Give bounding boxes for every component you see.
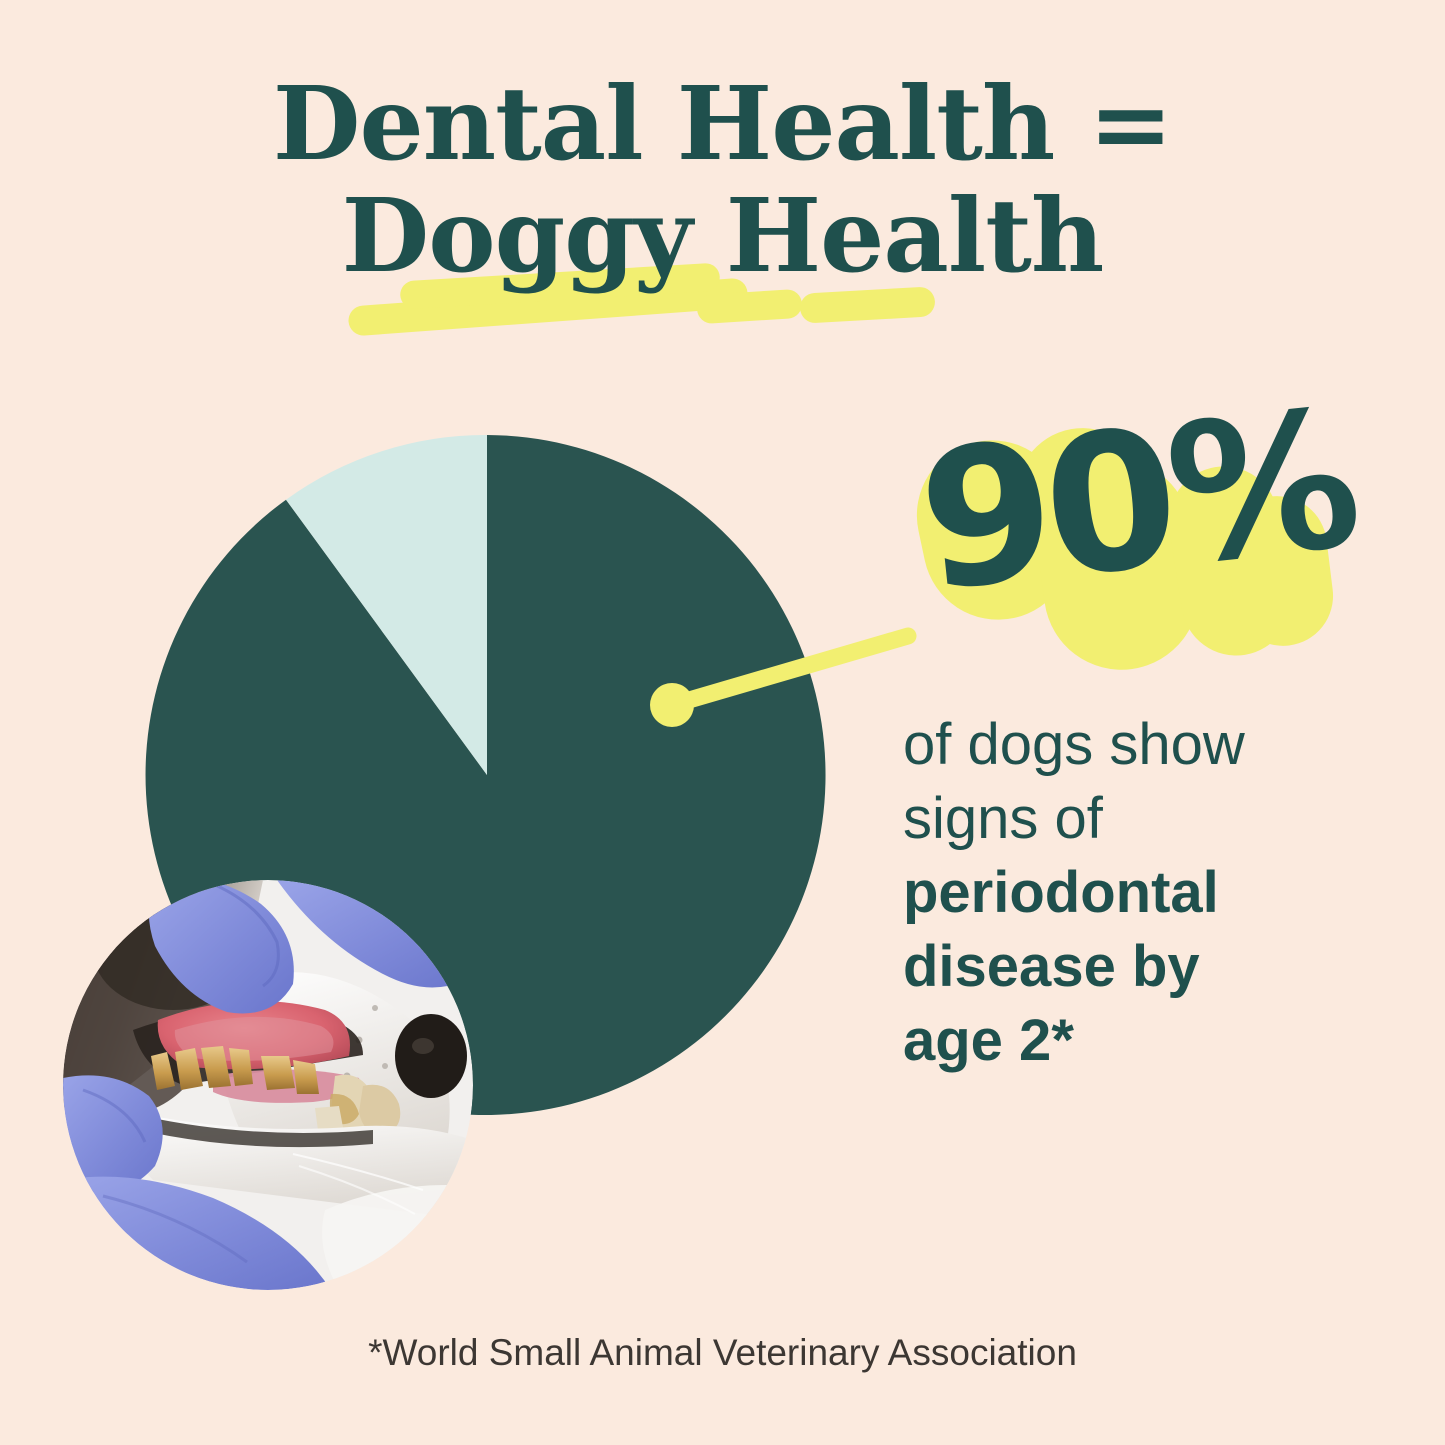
stat-line-2: signs of: [903, 786, 1103, 851]
page-title: Dental Health = Doggy Health: [0, 68, 1445, 292]
percent-value: 90%: [912, 380, 1361, 624]
stat-line-1: of dogs show: [903, 712, 1245, 777]
stat-description: of dogs show signs of periodontal diseas…: [903, 708, 1373, 1078]
stat-column: 90% of dogs show signs of periodontal di…: [900, 418, 1380, 673]
stat-bold-1: periodontal: [903, 860, 1219, 925]
percent-callout: 90%: [900, 418, 1350, 673]
source-footnote: *World Small Animal Veterinary Associati…: [0, 1330, 1445, 1376]
dog-dental-exam-photo: [63, 880, 473, 1290]
title-line-1: Dental Health =: [0, 68, 1445, 180]
stat-bold-2: disease by: [903, 934, 1200, 999]
title-line-2: Doggy Health: [0, 180, 1445, 292]
infographic-canvas: Dental Health = Doggy Health: [0, 0, 1445, 1445]
stat-bold-3: age 2*: [903, 1008, 1074, 1073]
